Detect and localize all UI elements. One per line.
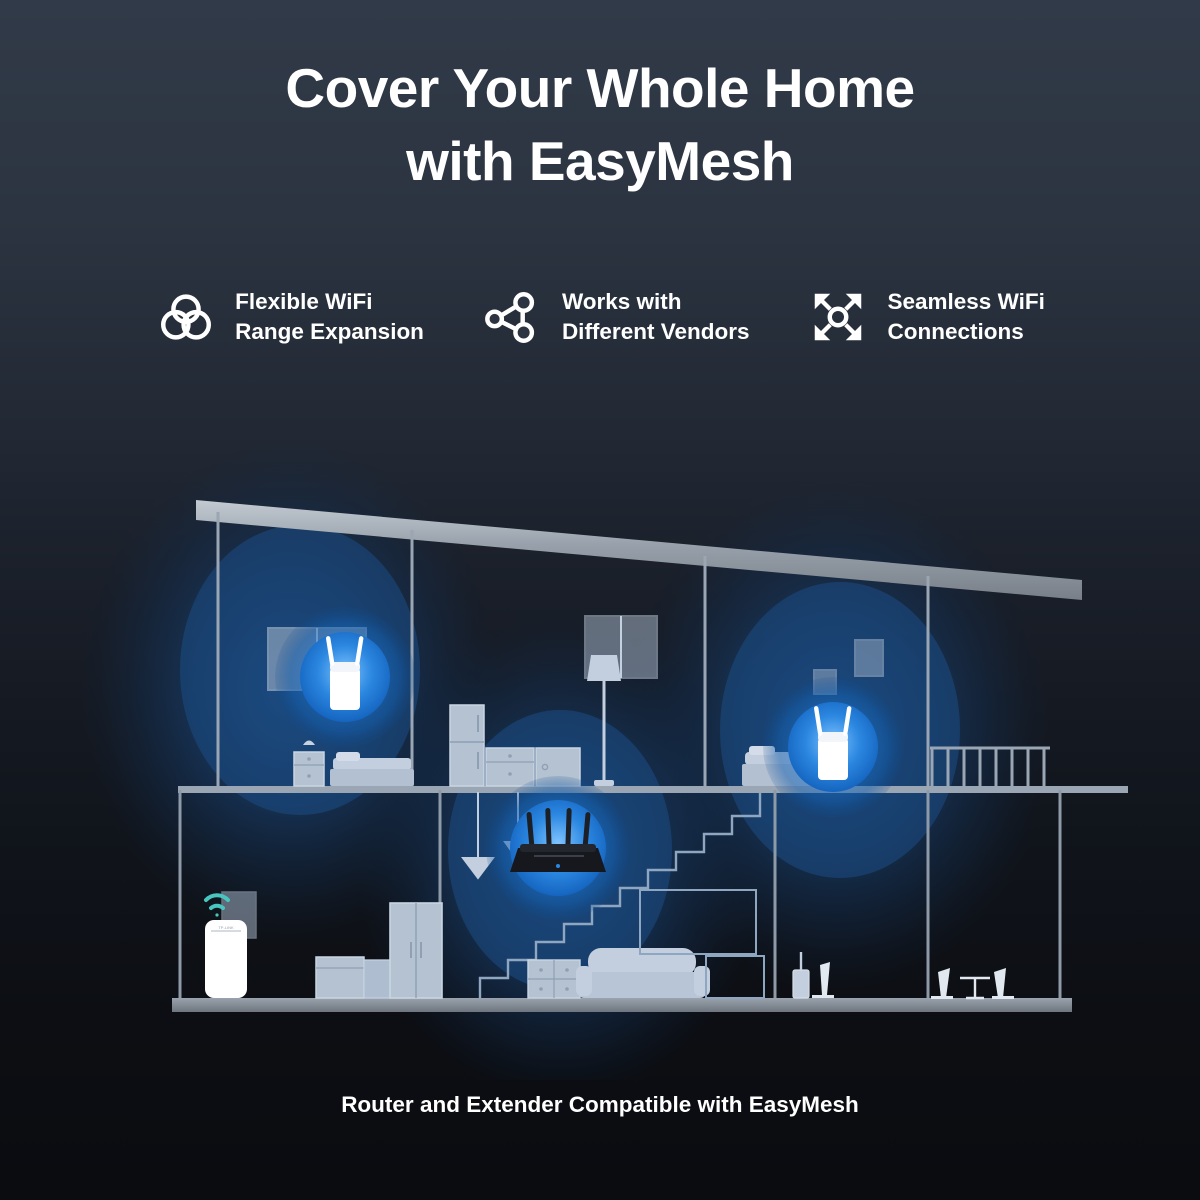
patio-table [960,978,990,998]
promo-banner: Cover Your Whole Home with EasyMesh Flex… [0,0,1200,1200]
title-line-1: Cover Your Whole Home [285,57,914,119]
feature-label-flexible-wifi: Flexible WiFi Range Expansion [235,287,424,346]
feature-line-1: Flexible WiFi [235,287,424,317]
feature-list: Flexible WiFi Range Expansion [0,286,1200,348]
low-cabinet [316,957,364,998]
trash-bin [793,970,809,998]
four-way-expand-arrows-icon [807,286,869,348]
page-title: Cover Your Whole Home with EasyMesh [0,52,1200,197]
three-overlapping-circles-icon [155,286,217,348]
router-body [510,844,606,872]
feature-line-2: Connections [887,317,1044,347]
feature-line-1: Works with [562,287,750,317]
patio-set [931,968,1014,999]
wifi-range-extender-bedroom[interactable] [275,607,415,747]
ground-slab [172,998,1072,1012]
svg-text:TP-LINK: TP-LINK [218,925,234,930]
illustration-caption: Router and Extender Compatible with Easy… [0,1092,1200,1118]
wall-frame-small [855,640,883,676]
feature-item-flexible-wifi-range-expansion: Flexible WiFi Range Expansion [155,286,424,348]
network-share-nodes-icon [482,286,544,348]
side-box [364,960,390,998]
mesh-router-living-room[interactable] [486,776,630,920]
feature-label-works-with-vendors: Works with Different Vendors [562,287,750,346]
wardrobe [390,903,442,998]
dresser [528,960,580,998]
second-floor-slab [178,786,1128,793]
refrigerator [450,705,484,786]
sofa [576,948,710,998]
feature-item-works-with-different-vendors: Works with Different Vendors [482,286,750,348]
title-line-2: with EasyMesh [0,125,1200,198]
house-illustration: TP-LINK [0,400,1200,1080]
feature-line-2: Range Expansion [235,317,424,347]
feature-item-seamless-wifi-connections: Seamless WiFi Connections [807,286,1044,348]
wifi-range-extender-upstairs[interactable] [763,677,903,817]
smart-washing-machine: TP-LINK [205,920,247,998]
feature-line-1: Seamless WiFi [887,287,1044,317]
feature-label-seamless-wifi: Seamless WiFi Connections [887,287,1044,346]
feature-line-2: Different Vendors [562,317,750,347]
